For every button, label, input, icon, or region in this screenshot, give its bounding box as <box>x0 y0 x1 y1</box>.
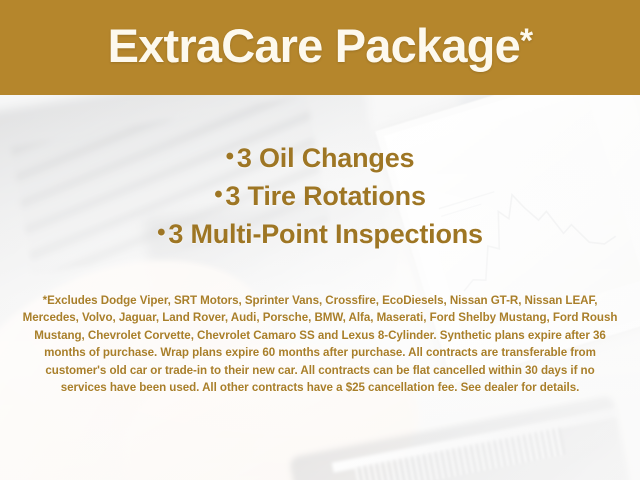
benefit-label: 3 Tire Rotations <box>225 181 425 211</box>
benefit-item-multi-point-inspections: •3 Multi-Point Inspections <box>0 216 640 254</box>
benefit-item-oil-changes: •3 Oil Changes <box>0 140 640 178</box>
benefit-label: 3 Oil Changes <box>237 143 414 173</box>
benefit-item-tire-rotations: •3 Tire Rotations <box>0 178 640 216</box>
benefit-label: 3 Multi-Point Inspections <box>168 219 483 249</box>
page-title-text: ExtraCare Package <box>108 19 520 72</box>
bullet-icon: • <box>214 181 222 208</box>
bullet-icon: • <box>226 143 234 170</box>
title-asterisk: * <box>520 22 532 60</box>
promo-content: •3 Oil Changes •3 Tire Rotations •3 Mult… <box>0 95 640 480</box>
header-banner: ExtraCare Package* <box>0 0 640 95</box>
benefits-list: •3 Oil Changes •3 Tire Rotations •3 Mult… <box>0 95 640 254</box>
bullet-icon: • <box>157 219 165 246</box>
extracare-package-promo-card: ExtraCare Package* •3 Oil Changes •3 Tir… <box>0 0 640 480</box>
disclaimer-text: *Excludes Dodge Viper, SRT Motors, Sprin… <box>0 254 640 396</box>
page-title: ExtraCare Package* <box>108 22 533 73</box>
